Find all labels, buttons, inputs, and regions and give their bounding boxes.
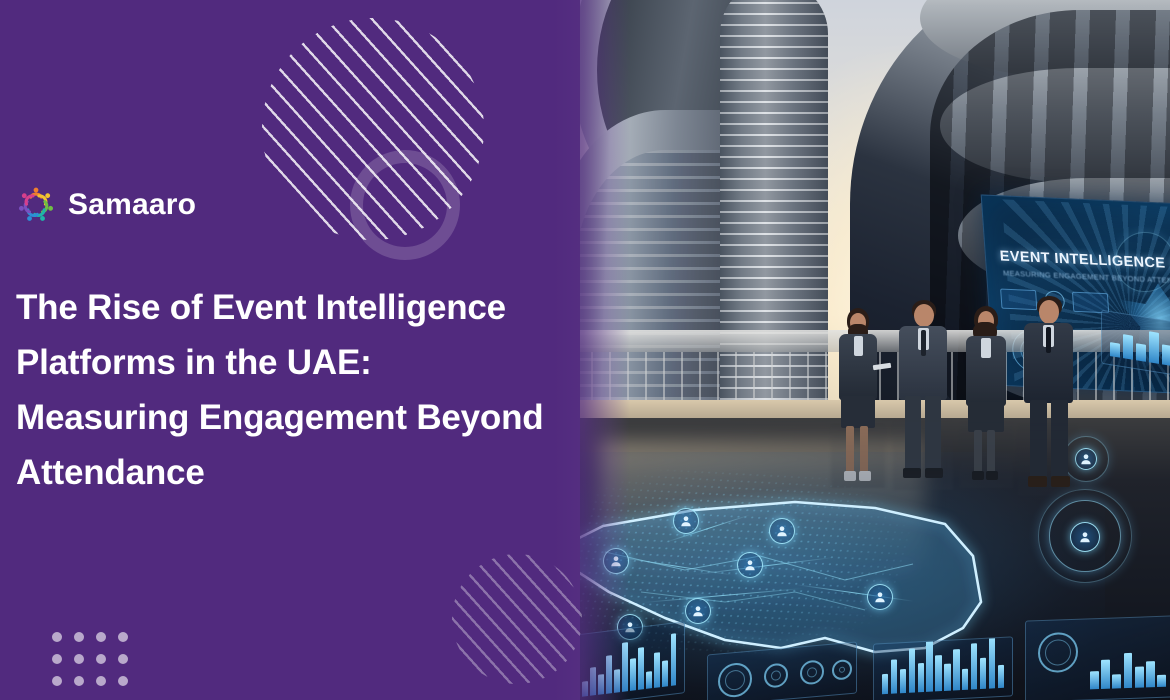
brand-name: Samaaro <box>68 188 196 222</box>
grid-dot <box>96 676 106 686</box>
grid-dot <box>74 632 84 642</box>
floor-dashboard-bars-center <box>873 636 1013 700</box>
blog-banner: EVENT INTELLIGENCE PLATFO MEASURING ENGA… <box>0 0 1170 700</box>
diagonal-stripes <box>452 554 582 684</box>
striped-circle-bottom-decoration <box>452 554 582 684</box>
hud-ring <box>1115 232 1170 292</box>
grid-dot <box>118 632 128 642</box>
person-reflection <box>831 422 885 488</box>
floor-marker-ring <box>1038 489 1132 583</box>
hero-photo: EVENT INTELLIGENCE PLATFO MEASURING ENGA… <box>555 0 1170 700</box>
grid-dot <box>118 654 128 664</box>
page-title: The Rise of Event Intelligence Platforms… <box>16 280 546 500</box>
grid-dot <box>52 654 62 664</box>
dot-grid-decoration <box>52 632 128 686</box>
grid-dot <box>52 632 62 642</box>
grid-dot <box>118 676 128 686</box>
samaaro-people-circle-logo-icon <box>14 182 58 228</box>
person-reflection <box>1017 421 1079 496</box>
floor-dashboard-right <box>1025 615 1170 700</box>
grid-dot <box>74 654 84 664</box>
gauge-icon <box>1038 632 1078 673</box>
bar-chart <box>1110 322 1170 366</box>
grid-dot <box>52 676 62 686</box>
gauge-icon <box>800 659 824 685</box>
gauge-icon <box>764 662 788 688</box>
grid-dot <box>74 676 84 686</box>
gauge-icon <box>718 662 752 699</box>
person-reflection <box>893 419 953 491</box>
bar-chart <box>1090 647 1166 690</box>
person-reflection <box>959 420 1013 488</box>
brand-logo[interactable]: Samaaro <box>14 182 196 228</box>
bar-chart <box>882 636 1004 694</box>
grid-dot <box>96 654 106 664</box>
grid-dot <box>96 632 106 642</box>
ring-decoration <box>350 150 460 260</box>
gauge-icon <box>832 659 852 681</box>
